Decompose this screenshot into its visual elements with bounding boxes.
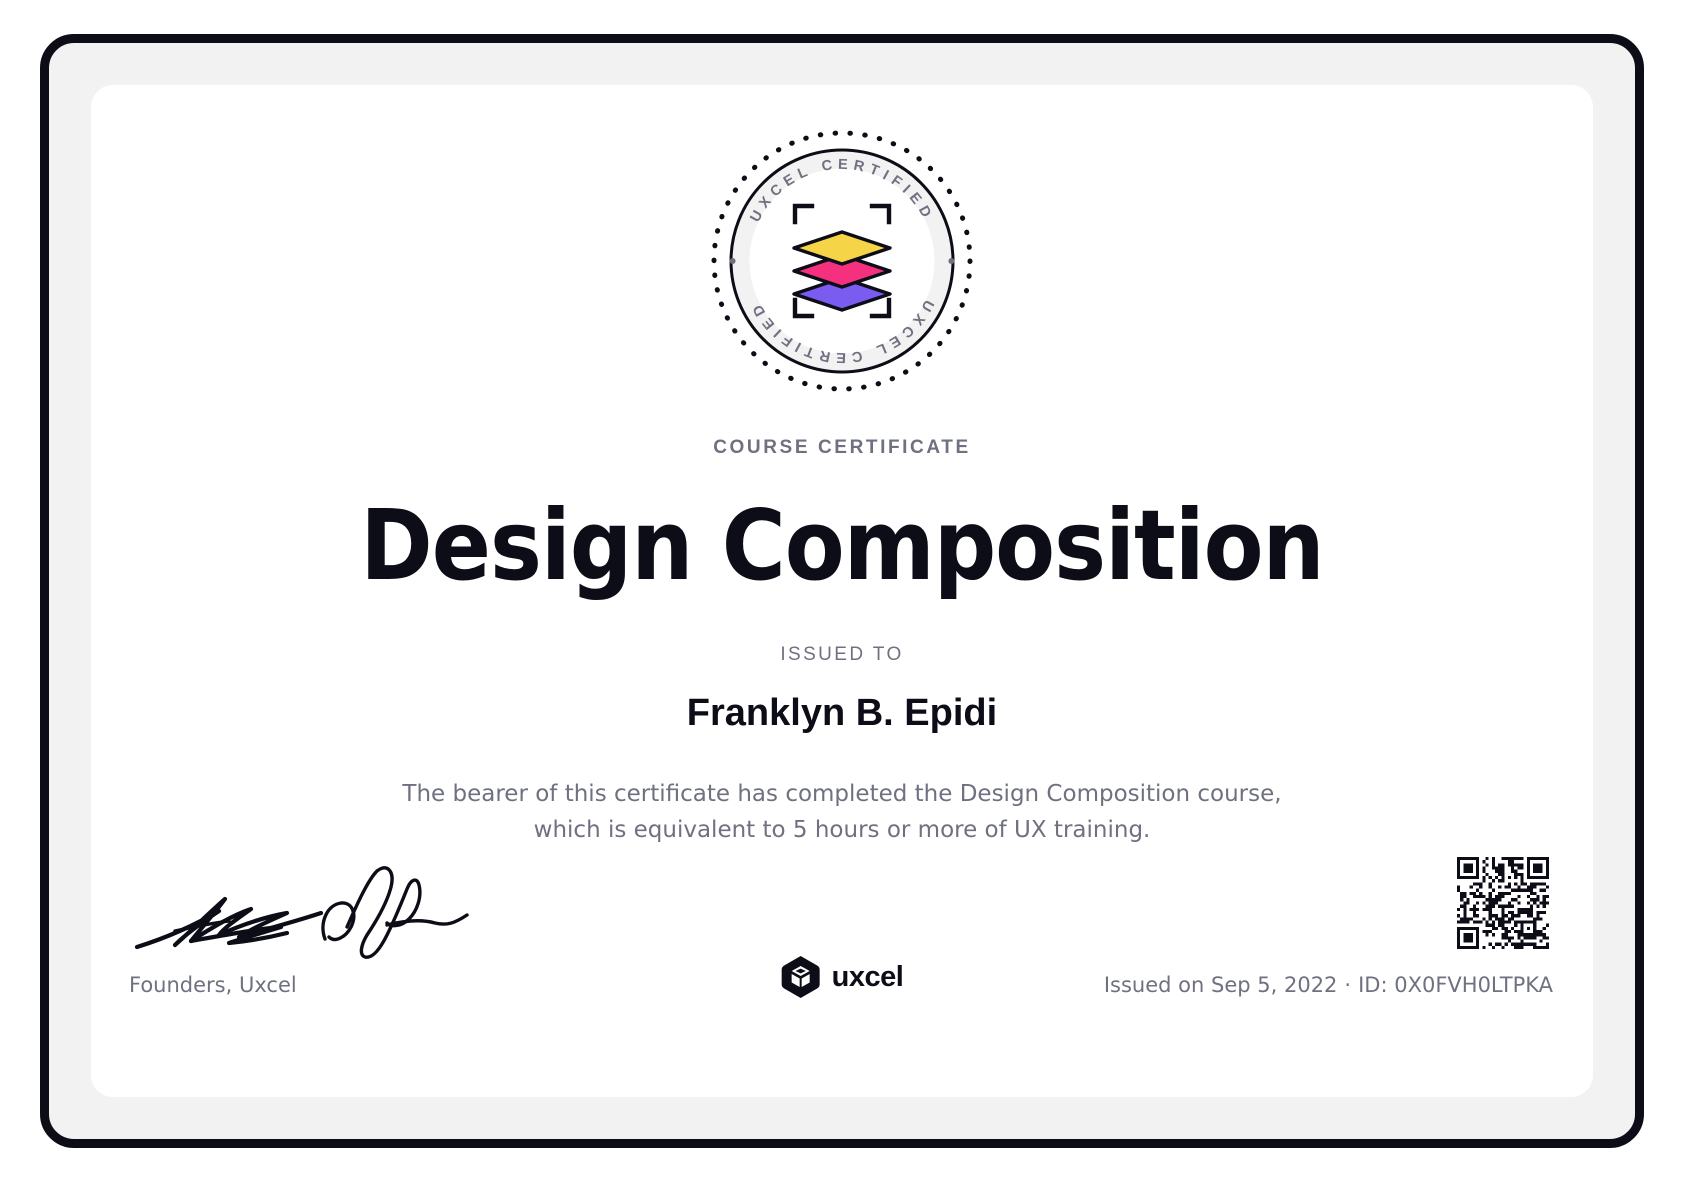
certificate-description: The bearer of this certificate has compl…: [91, 777, 1593, 848]
uxcel-hexagon-icon: [781, 955, 821, 999]
badge-bullet-right: [948, 258, 954, 264]
meta-separator: ·: [1337, 973, 1358, 997]
badge-layers-icon: [794, 232, 890, 310]
issued-on-date: Issued on Sep 5, 2022: [1104, 973, 1338, 997]
uxcel-brand-logo: uxcel: [781, 955, 904, 999]
verification-qr-code[interactable]: [1457, 857, 1549, 949]
certificate-id: ID: 0X0FVH0LTPKA: [1358, 973, 1553, 997]
description-line-1: The bearer of this certificate has compl…: [91, 777, 1593, 813]
issue-meta: Issued on Sep 5, 2022·ID: 0X0FVH0LTPKA: [1104, 973, 1553, 997]
recipient-name: Franklyn B. Epidi: [91, 692, 1593, 735]
description-line-2: which is equivalent to 5 hours or more o…: [91, 813, 1593, 849]
course-title: Design Composition: [91, 495, 1593, 597]
uxcel-certified-badge: UXCEL CERTIFIED UXCEL CERTIFIED: [707, 126, 977, 396]
certificate-frame: UXCEL CERTIFIED UXCEL CERTIFIED: [40, 34, 1644, 1148]
certificate-card: UXCEL CERTIFIED UXCEL CERTIFIED: [91, 85, 1593, 1097]
course-certificate-eyebrow: COURSE CERTIFICATE: [91, 437, 1593, 459]
uxcel-wordmark: uxcel: [832, 963, 904, 992]
badge-bullet-left: [730, 258, 736, 264]
founders-label: Founders, Uxcel: [129, 973, 297, 997]
issued-to-eyebrow: ISSUED TO: [91, 644, 1593, 666]
founder-signatures: [129, 865, 469, 965]
